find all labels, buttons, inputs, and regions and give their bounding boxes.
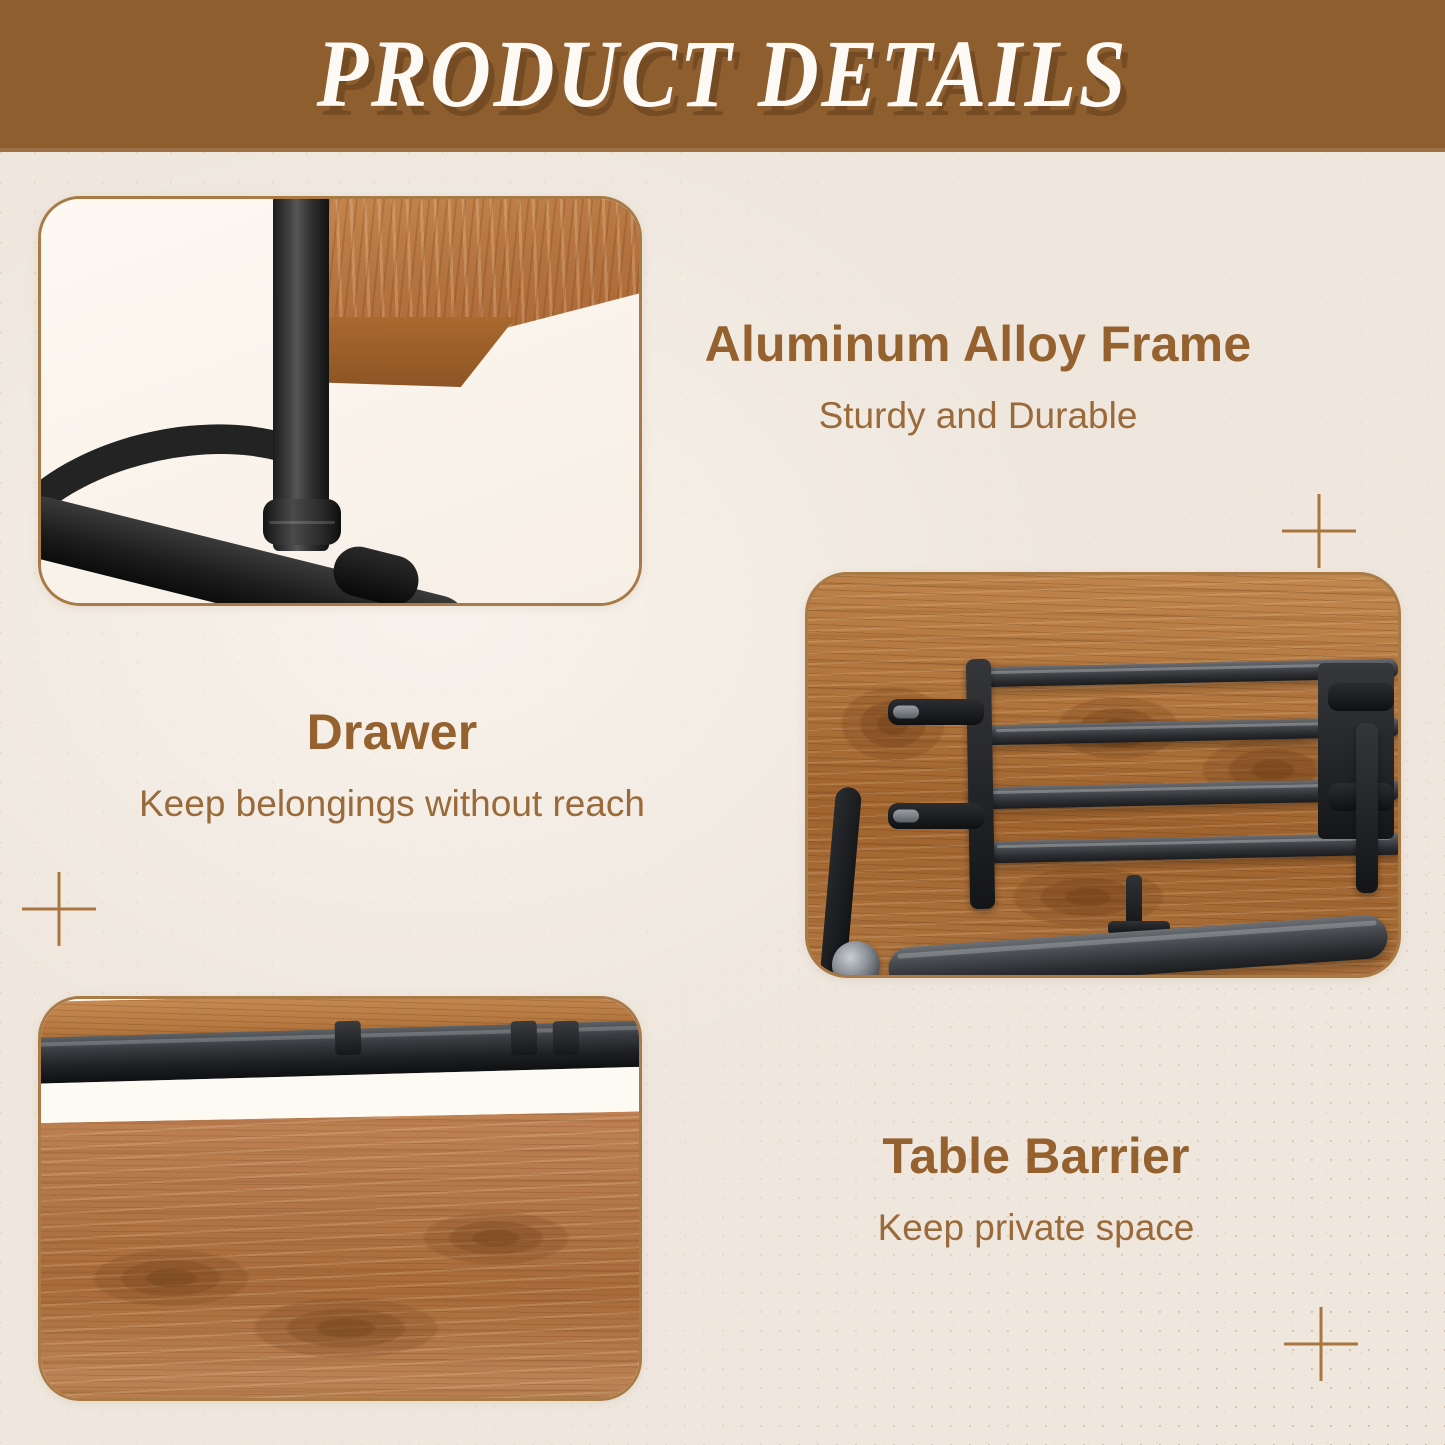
vertical-table-leg bbox=[273, 196, 329, 551]
bracket-slot bbox=[888, 803, 984, 829]
feature-title: Drawer bbox=[62, 704, 722, 760]
feature-subtitle: Keep private space bbox=[706, 1206, 1366, 1250]
barrier-clip bbox=[553, 1021, 580, 1056]
header-bar: PRODUCT DETAILS bbox=[0, 0, 1445, 152]
bracket-pin bbox=[893, 706, 919, 719]
feature-subtitle: Keep belongings without reach bbox=[62, 782, 722, 826]
bracket-slot bbox=[888, 699, 984, 725]
product-photo-underside-rails bbox=[805, 572, 1401, 978]
wood-knot bbox=[91, 1249, 251, 1307]
barrier-clip bbox=[511, 1021, 538, 1056]
photo-scene-barrier bbox=[41, 999, 639, 1398]
feature-aluminum-alloy-frame: Aluminum Alloy Frame Sturdy and Durable bbox=[648, 316, 1308, 438]
wood-knot bbox=[251, 1297, 441, 1359]
wood-knot bbox=[1008, 865, 1168, 929]
bracket-slot bbox=[1328, 683, 1394, 711]
wood-knot bbox=[421, 1211, 571, 1265]
product-photo-frame-detail bbox=[38, 196, 642, 606]
feature-subtitle: Sturdy and Durable bbox=[648, 394, 1308, 438]
photo-scene-frame bbox=[41, 199, 639, 603]
mounting-bracket bbox=[966, 659, 995, 909]
barrier-clip bbox=[335, 1021, 362, 1056]
side-bracket bbox=[1356, 723, 1378, 893]
header-underline bbox=[0, 148, 1445, 152]
feature-drawer: Drawer Keep belongings without reach bbox=[62, 704, 722, 826]
feature-table-barrier: Table Barrier Keep private space bbox=[706, 1128, 1366, 1250]
bracket-pin bbox=[893, 810, 919, 823]
leg-joint-collar bbox=[263, 499, 341, 545]
product-photo-table-barrier bbox=[38, 996, 642, 1401]
feature-title: Aluminum Alloy Frame bbox=[648, 316, 1308, 372]
page-title: PRODUCT DETAILS bbox=[87, 24, 1359, 125]
product-details-infographic: PRODUCT DETAILS bbox=[0, 0, 1445, 1445]
feature-title: Table Barrier bbox=[706, 1128, 1366, 1184]
